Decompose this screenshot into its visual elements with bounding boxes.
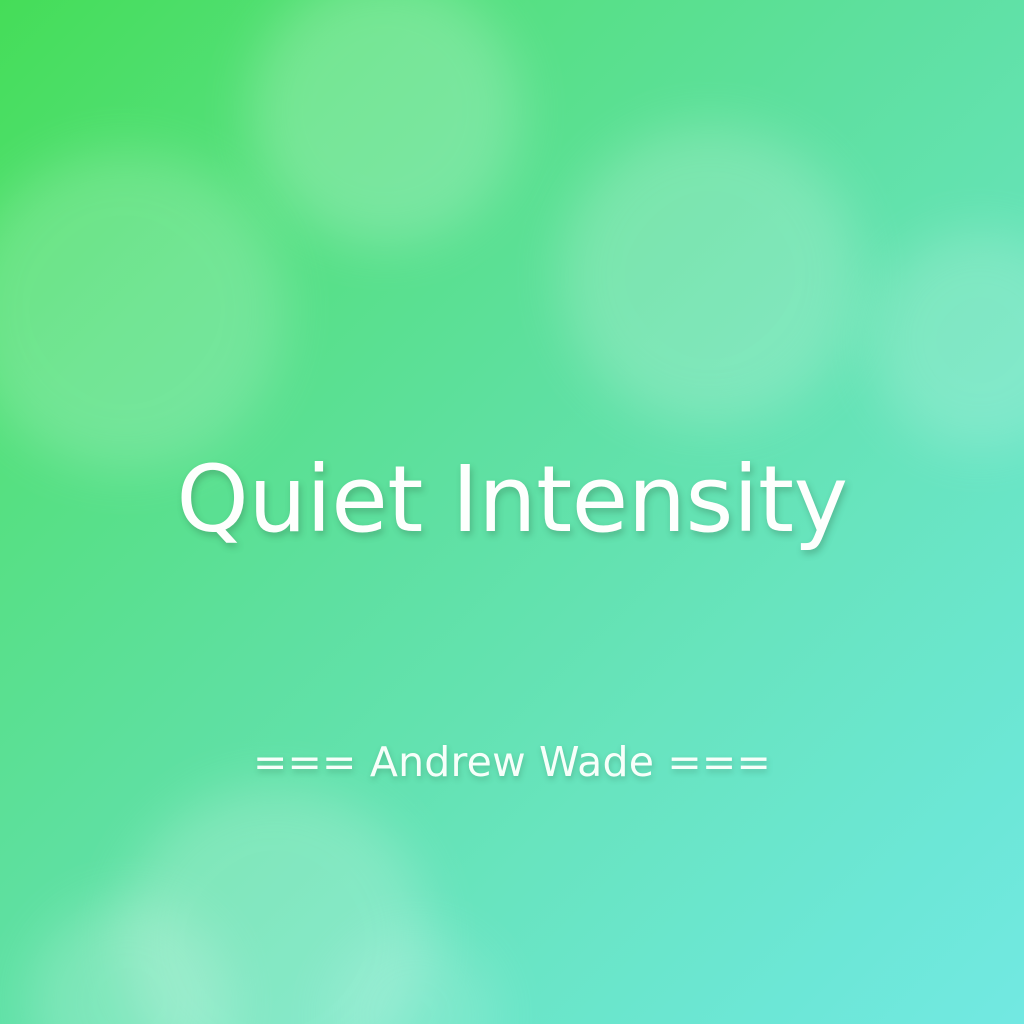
cover-text-block: Quiet Intensity === Andrew Wade === bbox=[0, 0, 1024, 1024]
album-artist: === Andrew Wade === bbox=[0, 740, 1024, 785]
album-cover: Quiet Intensity === Andrew Wade === bbox=[0, 0, 1024, 1024]
album-title: Quiet Intensity bbox=[0, 452, 1024, 549]
